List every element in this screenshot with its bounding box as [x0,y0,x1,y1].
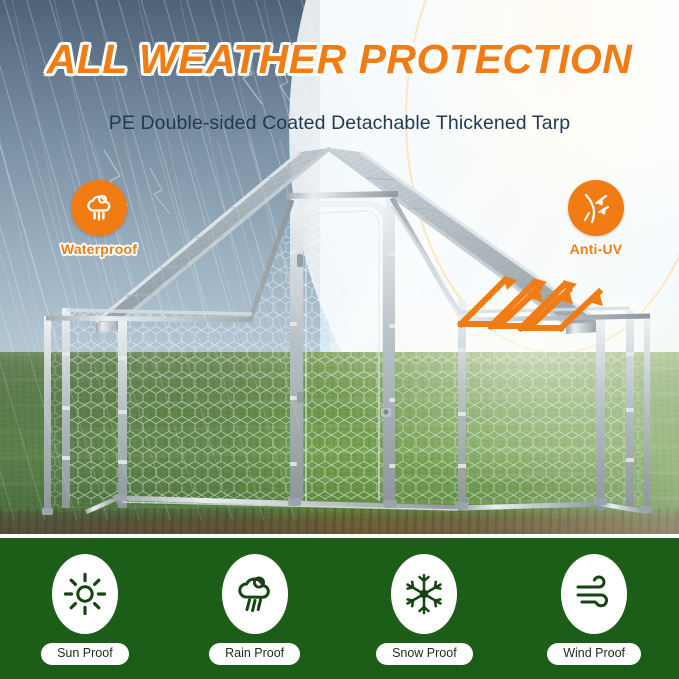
wind-proof-badge [561,554,627,634]
wind-proof-label: Wind Proof [547,643,641,665]
feature-wind-proof: Wind Proof [524,554,664,665]
page-title: ALL WEATHER PROTECTION [0,36,679,83]
badge-anti-uv: Anti-UV [536,180,656,257]
snow-proof-badge [391,554,457,634]
anti-uv-label: Anti-UV [536,241,656,257]
snow-proof-label: Snow Proof [376,643,473,665]
rain-proof-badge [222,554,288,634]
rain-cloud-icon [232,571,278,617]
sun-proof-label: Sun Proof [41,643,129,665]
cloud-rain-icon [82,191,116,225]
uv-deflect-icon [579,191,613,225]
feature-list: Sun Proof Rain Proof [0,538,679,679]
waterproof-label: Waterproof [39,241,159,257]
wind-icon [571,571,617,617]
page-subtitle: PE Double-sided Coated Detachable Thicke… [0,112,679,135]
product-feature-poster: Waterproof Anti-UV [0,0,679,679]
rain-proof-label: Rain Proof [209,643,300,665]
sun-icon [62,571,108,617]
feature-banner: Sun Proof Rain Proof [0,538,679,679]
snowflake-icon [401,571,447,617]
anti-uv-disc [568,180,624,236]
feature-snow-proof: Snow Proof [354,554,494,665]
badge-waterproof: Waterproof [39,180,159,257]
scene-photo: Waterproof Anti-UV [0,0,679,534]
feature-sun-proof: Sun Proof [15,554,155,665]
waterproof-disc [71,180,127,236]
feature-rain-proof: Rain Proof [185,554,325,665]
sun-proof-badge [52,554,118,634]
